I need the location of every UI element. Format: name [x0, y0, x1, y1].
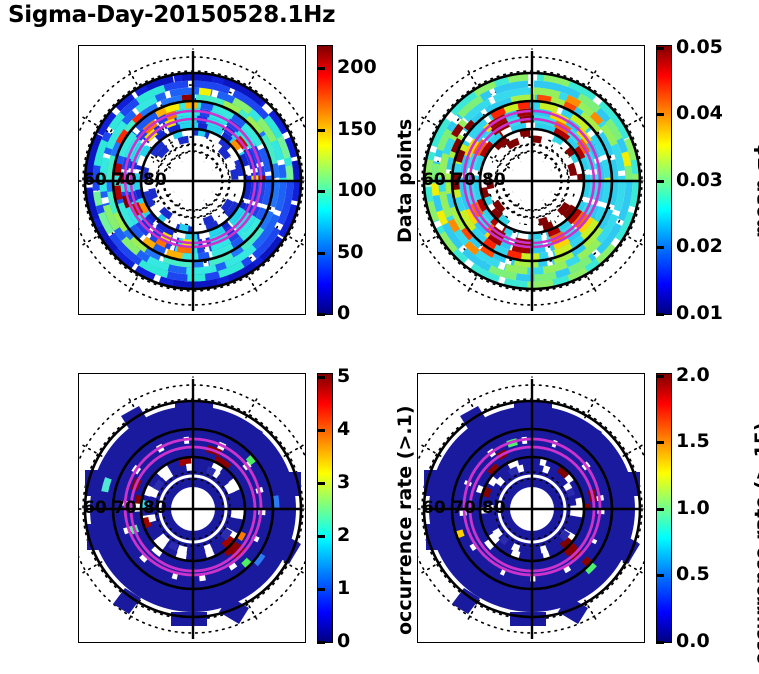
panel-bottom-right[interactable]: 60 70 80	[417, 373, 645, 643]
colorbar-tick	[317, 67, 325, 70]
colorbar-tick	[656, 375, 664, 378]
colorbar-tick-label: 1.5	[676, 432, 710, 451]
lat-label-80-bottom-right: 80	[482, 500, 506, 517]
colorbar-title-mean-sigma-phi: mean σϕ	[751, 142, 759, 238]
colorbar-tick-label: 0.02	[676, 237, 723, 256]
colorbar-tick-label: 4	[337, 420, 350, 439]
lat-label-70-top-right: 70	[452, 172, 476, 189]
panel-top-left[interactable]: 60 70 80	[78, 45, 306, 315]
colorbar-tick	[656, 641, 664, 644]
colorbar-tick	[656, 180, 664, 183]
lat-label-70-bottom-right: 70	[452, 500, 476, 517]
colorbar-tick	[317, 129, 325, 132]
colorbar-tick	[656, 246, 664, 249]
colorbar-tick-label: 3	[337, 473, 350, 492]
colorbar-tick	[317, 429, 325, 432]
colorbar-gradient-top-left	[318, 46, 332, 314]
colorbar-top-left[interactable]	[317, 45, 333, 315]
colorbar-tick	[317, 588, 325, 591]
colorbar-tick-label: 0.03	[676, 171, 723, 190]
colorbar-tick	[656, 508, 664, 511]
colorbar-bottom-left[interactable]	[317, 373, 333, 643]
colorbar-tick	[656, 47, 664, 50]
colorbar-tick-label: 1	[337, 579, 350, 598]
colorbar-tick-label: 0.0	[676, 632, 710, 651]
lat-label-60-top-right: 60	[422, 172, 446, 189]
colorbar-gradient-bottom-left	[318, 374, 332, 642]
colorbar-tick	[656, 441, 664, 444]
lat-label-80-top-right: 80	[482, 172, 506, 189]
panel-top-right[interactable]: 60 70 80	[417, 45, 645, 315]
lat-label-70-bottom-left: 70	[113, 500, 137, 517]
colorbar-tick-label: 0.5	[676, 565, 710, 584]
colorbar-tick-label: 0	[337, 304, 350, 323]
lat-label-60-bottom-right: 60	[422, 500, 446, 517]
panel-bottom-left[interactable]: 60 70 80	[78, 373, 306, 643]
colorbar-tick	[317, 641, 325, 644]
colorbar-title-data-points: Data points	[394, 119, 416, 243]
colorbar-tick-label: 2	[337, 526, 350, 545]
colorbar-tick	[317, 252, 325, 255]
colorbar-title-occurrence-rate-01: occurrence rate (>.1)	[394, 405, 416, 635]
colorbar-tick	[656, 113, 664, 116]
colorbar-tick	[317, 535, 325, 538]
colorbar-tick-label: 0.01	[676, 304, 723, 323]
colorbar-title-occurrence-rate-015: occurrence rate (>.15)	[751, 422, 759, 665]
colorbar-tick	[317, 313, 325, 316]
colorbar-tick-label: 50	[337, 243, 363, 262]
colorbar-tick	[317, 190, 325, 193]
colorbar-tick-label: 0	[337, 632, 350, 651]
figure-title: Sigma-Day-20150528.1Hz	[8, 2, 335, 28]
lat-label-60-bottom-left: 60	[83, 500, 107, 517]
lat-label-70-top-left: 70	[113, 172, 137, 189]
colorbar-tick-label: 100	[337, 181, 377, 200]
colorbar-top-right[interactable]	[656, 45, 672, 315]
colorbar-bottom-right[interactable]	[656, 373, 672, 643]
colorbar-tick-label: 1.0	[676, 499, 710, 518]
colorbar-tick-label: 0.04	[676, 104, 723, 123]
colorbar-tick	[317, 376, 325, 379]
lat-label-80-top-left: 80	[143, 172, 167, 189]
colorbar-tick	[656, 313, 664, 316]
lat-label-60-top-left: 60	[83, 172, 107, 189]
colorbar-tick-label: 2.0	[676, 366, 710, 385]
colorbar-tick-label: 0.05	[676, 38, 723, 57]
figure-canvas: Sigma-Day-20150528.1Hz	[0, 0, 759, 674]
colorbar-tick	[317, 482, 325, 485]
colorbar-tick-label: 5	[337, 367, 350, 386]
colorbar-tick-label: 150	[337, 120, 377, 139]
lat-label-80-bottom-left: 80	[143, 500, 167, 517]
colorbar-tick-label: 200	[337, 58, 377, 77]
colorbar-tick	[656, 574, 664, 577]
